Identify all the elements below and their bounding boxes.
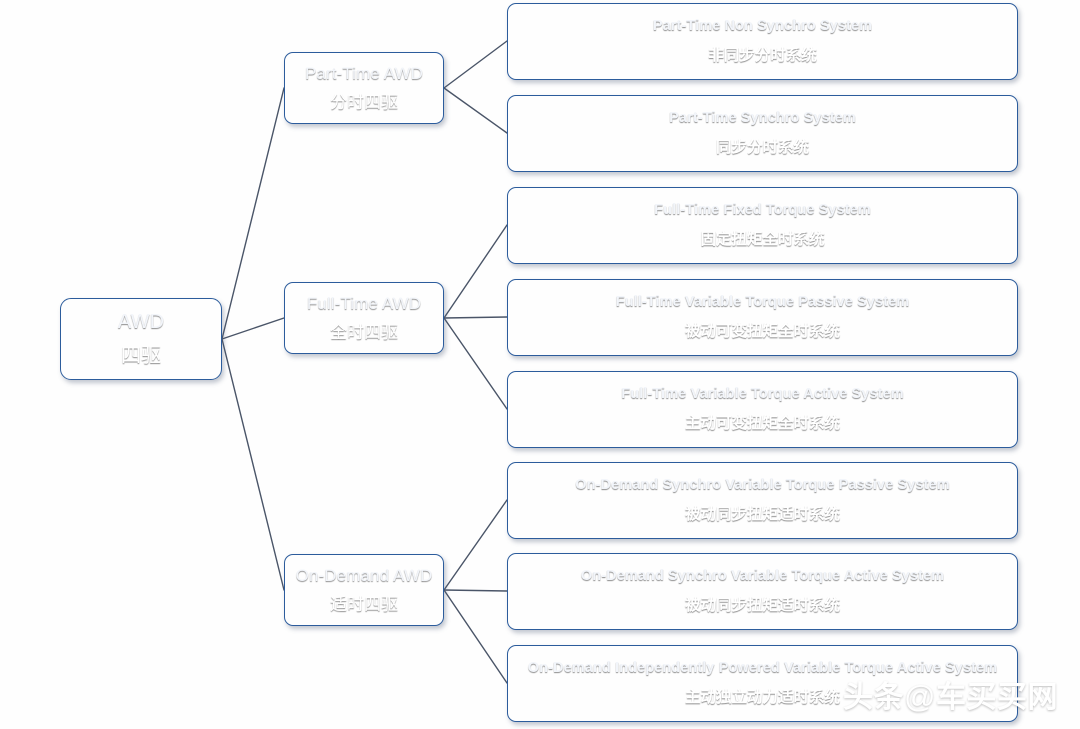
node-label-en: Full-Time Fixed Torque System bbox=[654, 202, 871, 219]
edge-full-time-leaf-4 bbox=[444, 318, 507, 409]
edge-part-time-leaf-1 bbox=[444, 88, 507, 133]
edge-on-demand-leaf-6 bbox=[444, 590, 507, 591]
node-on-demand-synchro-variable-torque-passive-system[interactable]: On-Demand Synchro Variable Torque Passiv… bbox=[507, 462, 1018, 539]
node-label-zh: 适时四驱 bbox=[330, 595, 398, 615]
edge-root-part-time bbox=[222, 88, 284, 339]
node-on-demand-synchro-variable-torque-active-system[interactable]: On-Demand Synchro Variable Torque Active… bbox=[507, 553, 1018, 630]
node-label-zh: 主动可变扭矩全时系统 bbox=[685, 415, 840, 433]
node-on-demand-awd[interactable]: On-Demand AWD 适时四驱 bbox=[284, 554, 444, 626]
watermark-brand: 头条 bbox=[843, 681, 904, 714]
node-label-zh: 被动可变扭矩全时系统 bbox=[685, 323, 840, 341]
node-label-zh: 四驱 bbox=[121, 345, 161, 368]
edge-part-time-leaf-0 bbox=[444, 41, 507, 88]
node-label-zh: 被动同步扭矩适时系统 bbox=[685, 597, 840, 615]
edge-on-demand-leaf-5 bbox=[444, 500, 507, 590]
node-label-zh: 非同步分时系统 bbox=[708, 47, 817, 65]
node-part-time-synchro-system[interactable]: Part-Time Synchro System 同步分时系统 bbox=[507, 95, 1018, 172]
diagram-canvas: AWD 四驱 Part-Time AWD 分时四驱 Full-Time AWD … bbox=[0, 0, 1080, 729]
edge-on-demand-leaf-7 bbox=[444, 590, 507, 683]
node-label-en: Part-Time Synchro System bbox=[669, 110, 856, 127]
watermark-at-symbol: @ bbox=[904, 679, 936, 714]
edge-full-time-leaf-3 bbox=[444, 317, 507, 318]
node-part-time-awd[interactable]: Part-Time AWD 分时四驱 bbox=[284, 52, 444, 124]
node-label-en: Full-Time Variable Torque Active System bbox=[621, 386, 903, 403]
watermark-account: 车买买网 bbox=[936, 681, 1058, 714]
node-full-time-variable-torque-active-system[interactable]: Full-Time Variable Torque Active System … bbox=[507, 371, 1018, 448]
node-label-en: Full-Time Variable Torque Passive System bbox=[616, 294, 910, 311]
node-label-en: On-Demand Synchro Variable Torque Passiv… bbox=[575, 477, 949, 494]
node-part-time-non-synchro-system[interactable]: Part-Time Non Synchro System 非同步分时系统 bbox=[507, 3, 1018, 80]
watermark: 头条@车买买网 bbox=[843, 672, 1058, 716]
edge-root-on-demand bbox=[222, 339, 284, 590]
node-awd-root[interactable]: AWD 四驱 bbox=[60, 298, 222, 380]
node-label-en: Part-Time Non Synchro System bbox=[653, 18, 872, 35]
node-label-zh: 全时四驱 bbox=[330, 323, 398, 343]
node-label-en: On-Demand Synchro Variable Torque Active… bbox=[581, 568, 944, 585]
node-label-zh: 主动独立动力适时系统 bbox=[685, 689, 840, 707]
node-label-en: On-Demand AWD bbox=[296, 566, 433, 586]
node-label-zh: 分时四驱 bbox=[330, 93, 398, 113]
edge-full-time-leaf-2 bbox=[444, 225, 507, 318]
node-full-time-variable-torque-passive-system[interactable]: Full-Time Variable Torque Passive System… bbox=[507, 279, 1018, 356]
node-label-en: AWD bbox=[118, 311, 164, 334]
node-label-zh: 固定扭矩全时系统 bbox=[700, 231, 824, 249]
node-label-en: Full-Time AWD bbox=[307, 294, 421, 314]
node-label-zh: 被动同步扭矩适时系统 bbox=[685, 506, 840, 524]
node-label-zh: 同步分时系统 bbox=[716, 139, 809, 157]
node-full-time-awd[interactable]: Full-Time AWD 全时四驱 bbox=[284, 282, 444, 354]
edge-root-full-time bbox=[222, 318, 284, 339]
node-label-en: Part-Time AWD bbox=[305, 64, 423, 84]
node-full-time-fixed-torque-system[interactable]: Full-Time Fixed Torque System 固定扭矩全时系统 bbox=[507, 187, 1018, 264]
